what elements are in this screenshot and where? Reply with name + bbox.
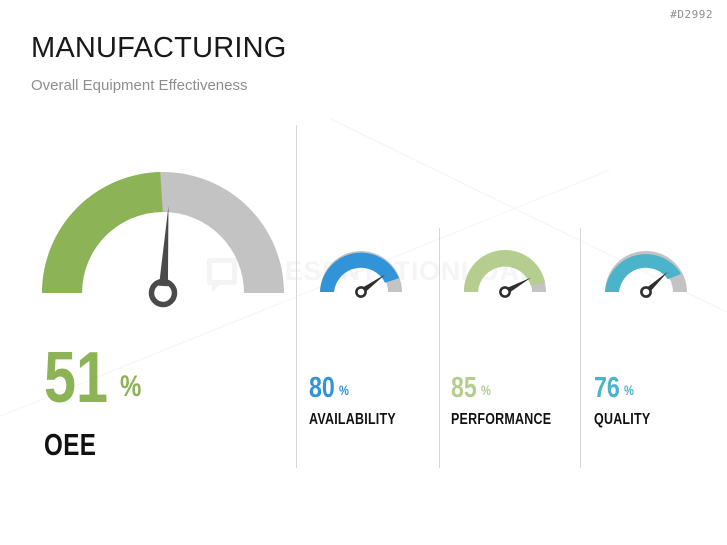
divider-3 [580, 228, 581, 468]
kpi-quality-value: 76 [594, 375, 620, 402]
kpi-oee-label-row: OEE [44, 427, 147, 463]
document-code: #D2992 [670, 8, 713, 21]
kpi-oee-value-row: 51% [44, 345, 147, 411]
kpi-performance-label-row: PERFORMANCE [451, 411, 580, 429]
kpi-availability-value: 80 [309, 375, 335, 402]
kpi-quality-label-row: QUALITY [594, 411, 666, 429]
kpi-oee-label: OEE [44, 427, 96, 463]
gauge-performance [461, 246, 549, 298]
kpi-performance-value-row: 85% [451, 375, 580, 402]
slide-canvas: #D2992 MANUFACTURING Overall Equipment E… [0, 0, 727, 545]
gauge-availability [317, 246, 405, 298]
kpi-availability-value-row: 80% [309, 375, 420, 402]
gauge-availability-svg [317, 246, 405, 298]
kpi-quality-percent-symbol: % [624, 382, 634, 398]
gauge-availability-value-arc [320, 253, 399, 292]
gauge-quality-svg [602, 246, 690, 298]
kpi-availability: 80% AVAILABILITY [309, 375, 420, 429]
gauge-oee-value-arc [42, 172, 163, 293]
kpi-performance-value: 85 [451, 375, 477, 402]
gauge-oee-svg [32, 163, 294, 303]
kpi-oee-value: 51 [44, 345, 108, 411]
kpi-availability-label: AVAILABILITY [309, 411, 396, 429]
kpi-quality: 76% QUALITY [594, 375, 666, 429]
divider-1 [296, 125, 297, 468]
page-title: MANUFACTURING [31, 32, 287, 65]
kpi-performance-percent-symbol: % [481, 382, 491, 398]
gauge-oee [32, 163, 294, 303]
divider-2 [439, 228, 440, 468]
kpi-oee-percent-symbol: % [120, 370, 141, 404]
gauge-oee-needle [151, 205, 180, 305]
gauge-quality [602, 246, 690, 298]
kpi-availability-label-row: AVAILABILITY [309, 411, 420, 429]
kpi-availability-percent-symbol: % [339, 382, 349, 398]
kpi-performance: 85% PERFORMANCE [451, 375, 580, 429]
kpi-quality-value-row: 76% [594, 375, 666, 402]
kpi-quality-label: QUALITY [594, 411, 650, 429]
gauge-performance-svg [461, 246, 549, 298]
kpi-oee: 51% OEE [44, 345, 147, 463]
page-subtitle: Overall Equipment Effectiveness [31, 77, 248, 94]
kpi-performance-label: PERFORMANCE [451, 411, 551, 429]
